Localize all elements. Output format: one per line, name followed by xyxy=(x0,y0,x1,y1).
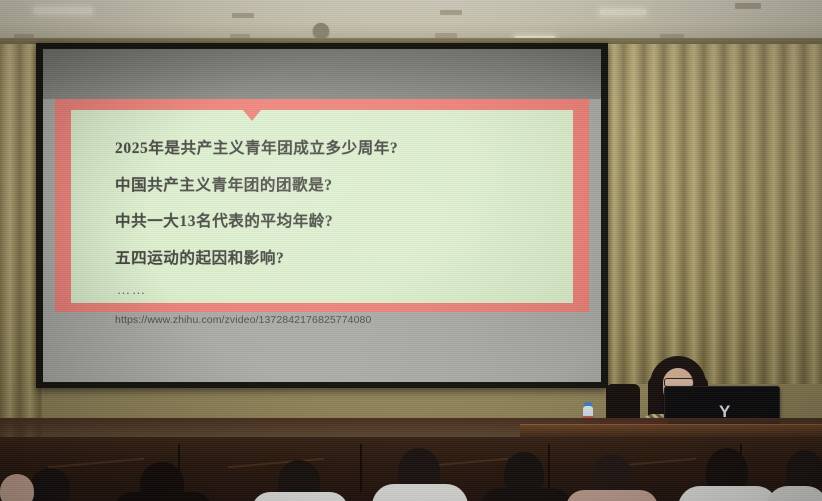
lecture-hall-photo: 2025年是共产主义青年团成立多少周年? 中国共产主义青年团的团歌是? 中共一大… xyxy=(0,0,822,501)
audience-head xyxy=(0,474,34,501)
ceiling-light-fixture xyxy=(600,9,646,15)
panel-divider xyxy=(360,444,362,492)
projection-screen-surface: 2025年是共产主义青年团成立多少周年? 中国共产主义青年团的团歌是? 中共一大… xyxy=(43,49,601,382)
ceiling xyxy=(0,0,822,42)
audience-shoulders xyxy=(372,484,468,501)
curtain-right xyxy=(604,44,822,384)
slide-source-url: https://www.zhihu.com/zvideo/13728421768… xyxy=(115,314,553,326)
projection-screen-frame: 2025年是共产主义青年团成立多少周年? 中国共产主义青年团的团歌是? 中共一大… xyxy=(36,43,608,388)
audience-shoulders xyxy=(252,492,348,501)
slide-ellipsis: …… xyxy=(117,282,553,298)
ceiling-vent xyxy=(232,13,254,18)
ceiling-vent xyxy=(440,10,462,15)
slide-accent-border: 2025年是共产主义青年团成立多少周年? 中国共产主义青年团的团歌是? 中共一大… xyxy=(55,99,589,312)
slide-question-1: 2025年是共产主义青年团成立多少周年? xyxy=(115,136,553,158)
audience-shoulders xyxy=(566,490,658,501)
slide-question-4: 五四运动的起因和影响? xyxy=(115,246,553,268)
audience-shoulders xyxy=(114,492,212,501)
audience-shoulders xyxy=(678,486,778,501)
slide-text-block: 2025年是共产主义青年团成立多少周年? 中国共产主义青年团的团歌是? 中共一大… xyxy=(115,136,553,337)
ceiling-light-fixture xyxy=(34,7,92,14)
ceiling-vent xyxy=(735,3,761,9)
triangle-notch-icon xyxy=(243,110,261,121)
slide-question-2: 中国共产主义青年团的团歌是? xyxy=(115,173,553,195)
slide-top-band xyxy=(43,49,601,99)
slide-question-3: 中共一大13名代表的平均年龄? xyxy=(115,209,553,231)
slide-content-panel: 2025年是共产主义青年团成立多少周年? 中国共产主义青年团的团歌是? 中共一大… xyxy=(71,110,573,303)
panel-divider xyxy=(548,444,550,492)
ceiling-speaker xyxy=(313,23,329,38)
audience-head xyxy=(30,468,70,501)
audience-shoulders xyxy=(480,488,572,501)
